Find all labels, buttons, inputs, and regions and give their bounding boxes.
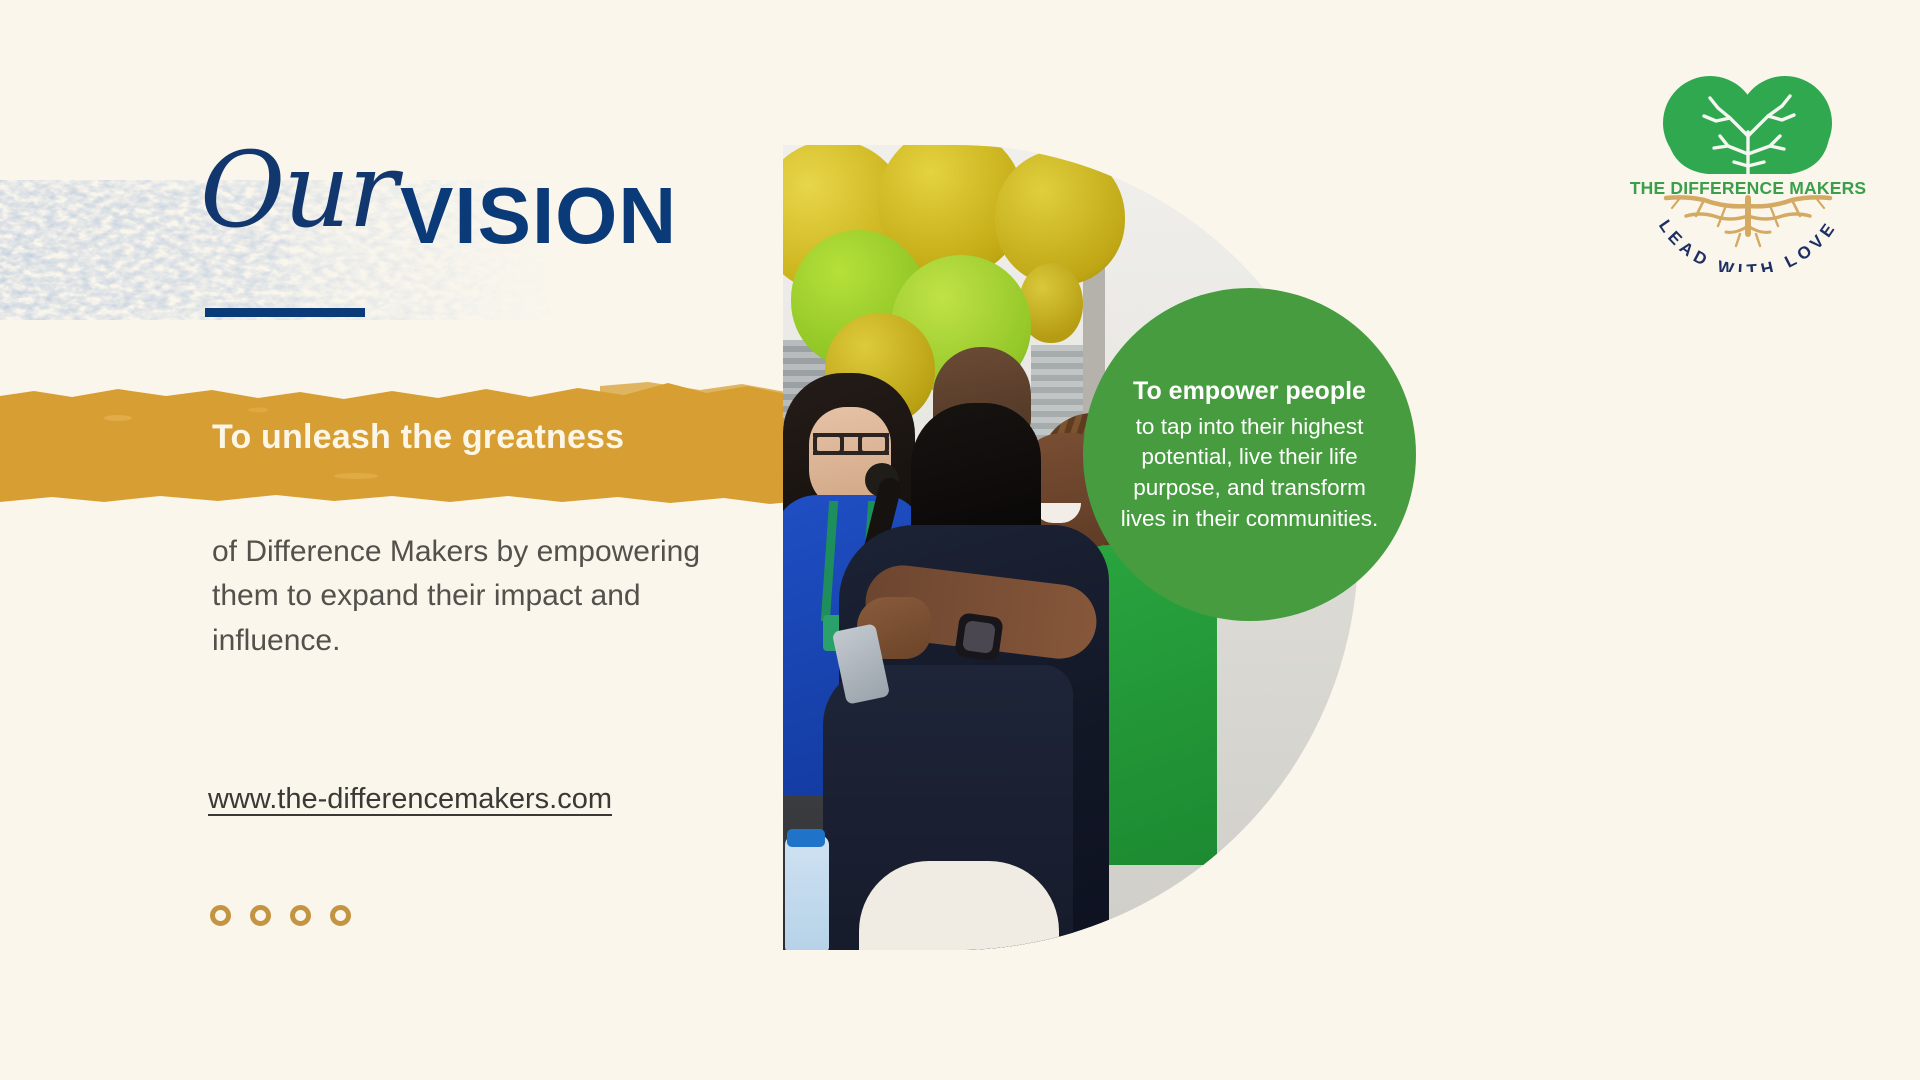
website-url-link[interactable]: www.the-differencemakers.com (208, 783, 612, 816)
photo-table (859, 861, 1059, 950)
photo-smartwatch-face (962, 620, 996, 654)
mission-body: to tap into their highest potential, liv… (1117, 412, 1382, 534)
photo-speaker-glasses (813, 433, 889, 455)
photo-water-bottle-cap (787, 829, 825, 847)
vision-body-paragraph: of Difference Makers by empowering them … (212, 530, 752, 663)
dot-ring-2 (250, 905, 271, 926)
title-bold-word: VISION (400, 176, 677, 256)
brand-logo: THE DIFFERENCE MAKERS (1630, 66, 1866, 272)
mission-heading: To empower people (1133, 375, 1366, 408)
dot-ring-4 (330, 905, 351, 926)
title-script-word: Our (200, 138, 396, 242)
dot-ring-3 (290, 905, 311, 926)
logo-roots-icon (1666, 197, 1830, 246)
decorative-dot-row (210, 905, 351, 926)
banner-headline: To unleash the greatness (212, 418, 624, 457)
logo-artwork: THE DIFFERENCE MAKERS (1630, 66, 1866, 272)
photo-water-bottle (785, 835, 829, 950)
dot-ring-1 (210, 905, 231, 926)
slide-canvas: Our VISION To unleash the greatness of D… (0, 0, 1920, 1080)
title-underline-rule (205, 308, 365, 317)
mission-circle: To empower people to tap into their high… (1083, 288, 1416, 621)
gold-banner: To unleash the greatness (0, 380, 810, 505)
